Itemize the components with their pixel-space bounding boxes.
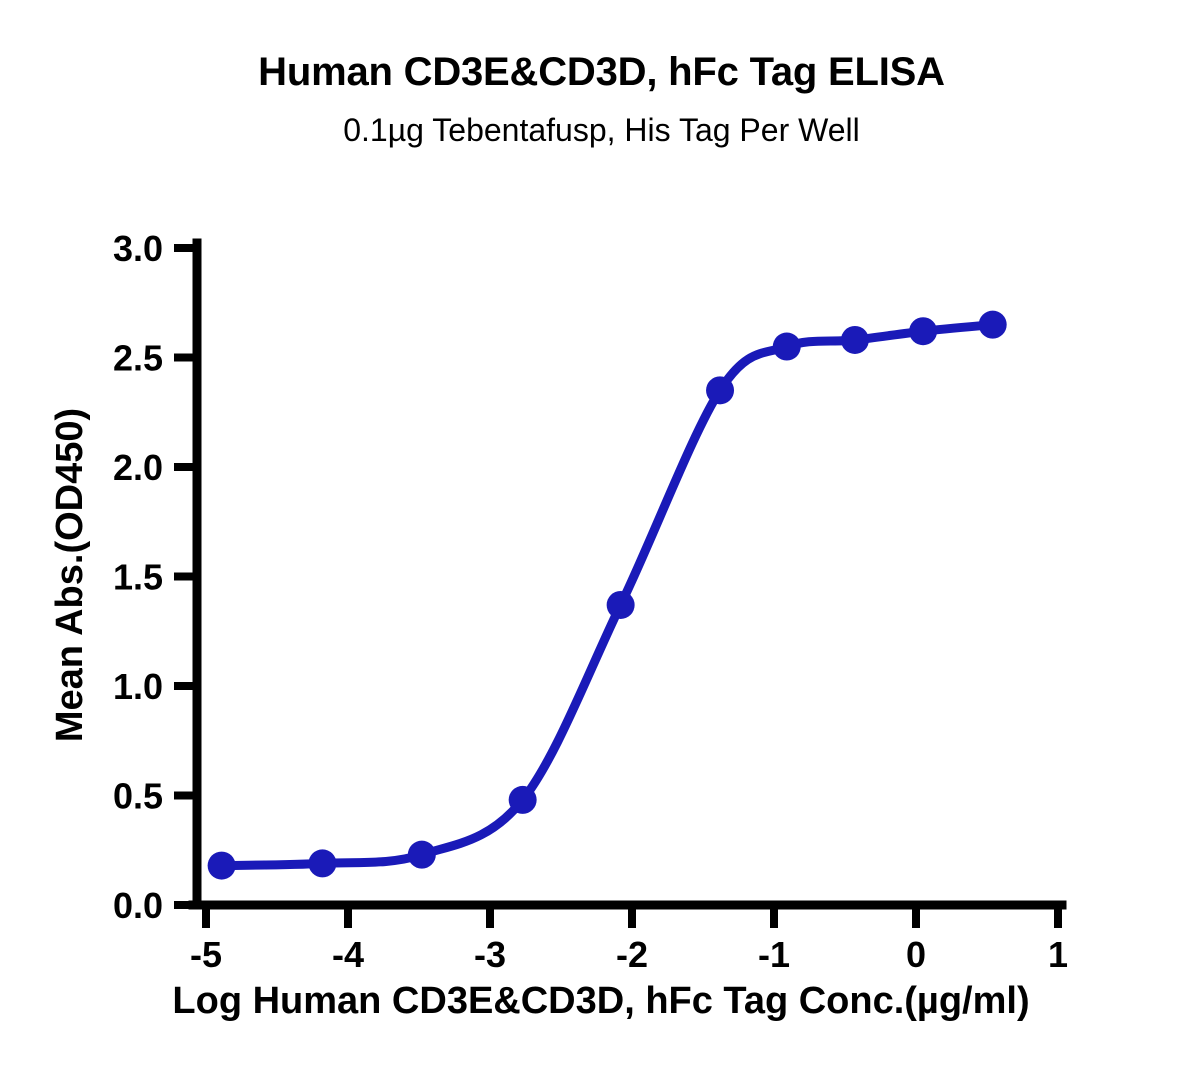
x-tick-label-group: -5-4-3-2-101: [190, 934, 1068, 975]
x-tick-label: -4: [332, 934, 364, 975]
series-marker-group: [208, 311, 1007, 880]
x-tick-label: -3: [474, 934, 506, 975]
x-tick-label: -5: [190, 934, 222, 975]
y-tick-label: 2.0: [113, 447, 163, 488]
x-tick-label: -2: [616, 934, 648, 975]
y-tick-label: 0.0: [113, 885, 163, 926]
data-point-marker: [509, 786, 537, 814]
y-tick-label: 1.0: [113, 666, 163, 707]
y-axis-title: Mean Abs.(OD450): [49, 408, 91, 742]
y-tick-label-group: 0.00.51.01.52.02.53.0: [113, 228, 163, 926]
x-axis-title: Log Human CD3E&CD3D, hFc Tag Conc.(µg/ml…: [172, 980, 1029, 1022]
plot-area: 0.00.51.01.52.02.53.0 -5-4-3-2-101 Log H…: [0, 0, 1203, 1086]
data-point-marker: [841, 326, 869, 354]
y-tick-label: 2.5: [113, 338, 163, 379]
y-tick-label: 0.5: [113, 776, 163, 817]
data-point-marker: [208, 852, 236, 880]
chart-figure: Human CD3E&CD3D, hFc Tag ELISA 0.1µg Teb…: [0, 0, 1203, 1086]
data-point-marker: [408, 841, 436, 869]
x-tick-label: -1: [758, 934, 790, 975]
y-tick-label: 1.5: [113, 557, 163, 598]
series-line-curve: [222, 325, 993, 866]
data-point-marker: [308, 849, 336, 877]
x-tick-label: 1: [1048, 934, 1068, 975]
data-point-marker: [607, 591, 635, 619]
data-point-marker: [773, 333, 801, 361]
data-point-marker: [706, 376, 734, 404]
data-point-marker: [909, 317, 937, 345]
x-tick-label: 0: [906, 934, 926, 975]
data-point-marker: [979, 311, 1007, 339]
y-tick-label: 3.0: [113, 228, 163, 269]
